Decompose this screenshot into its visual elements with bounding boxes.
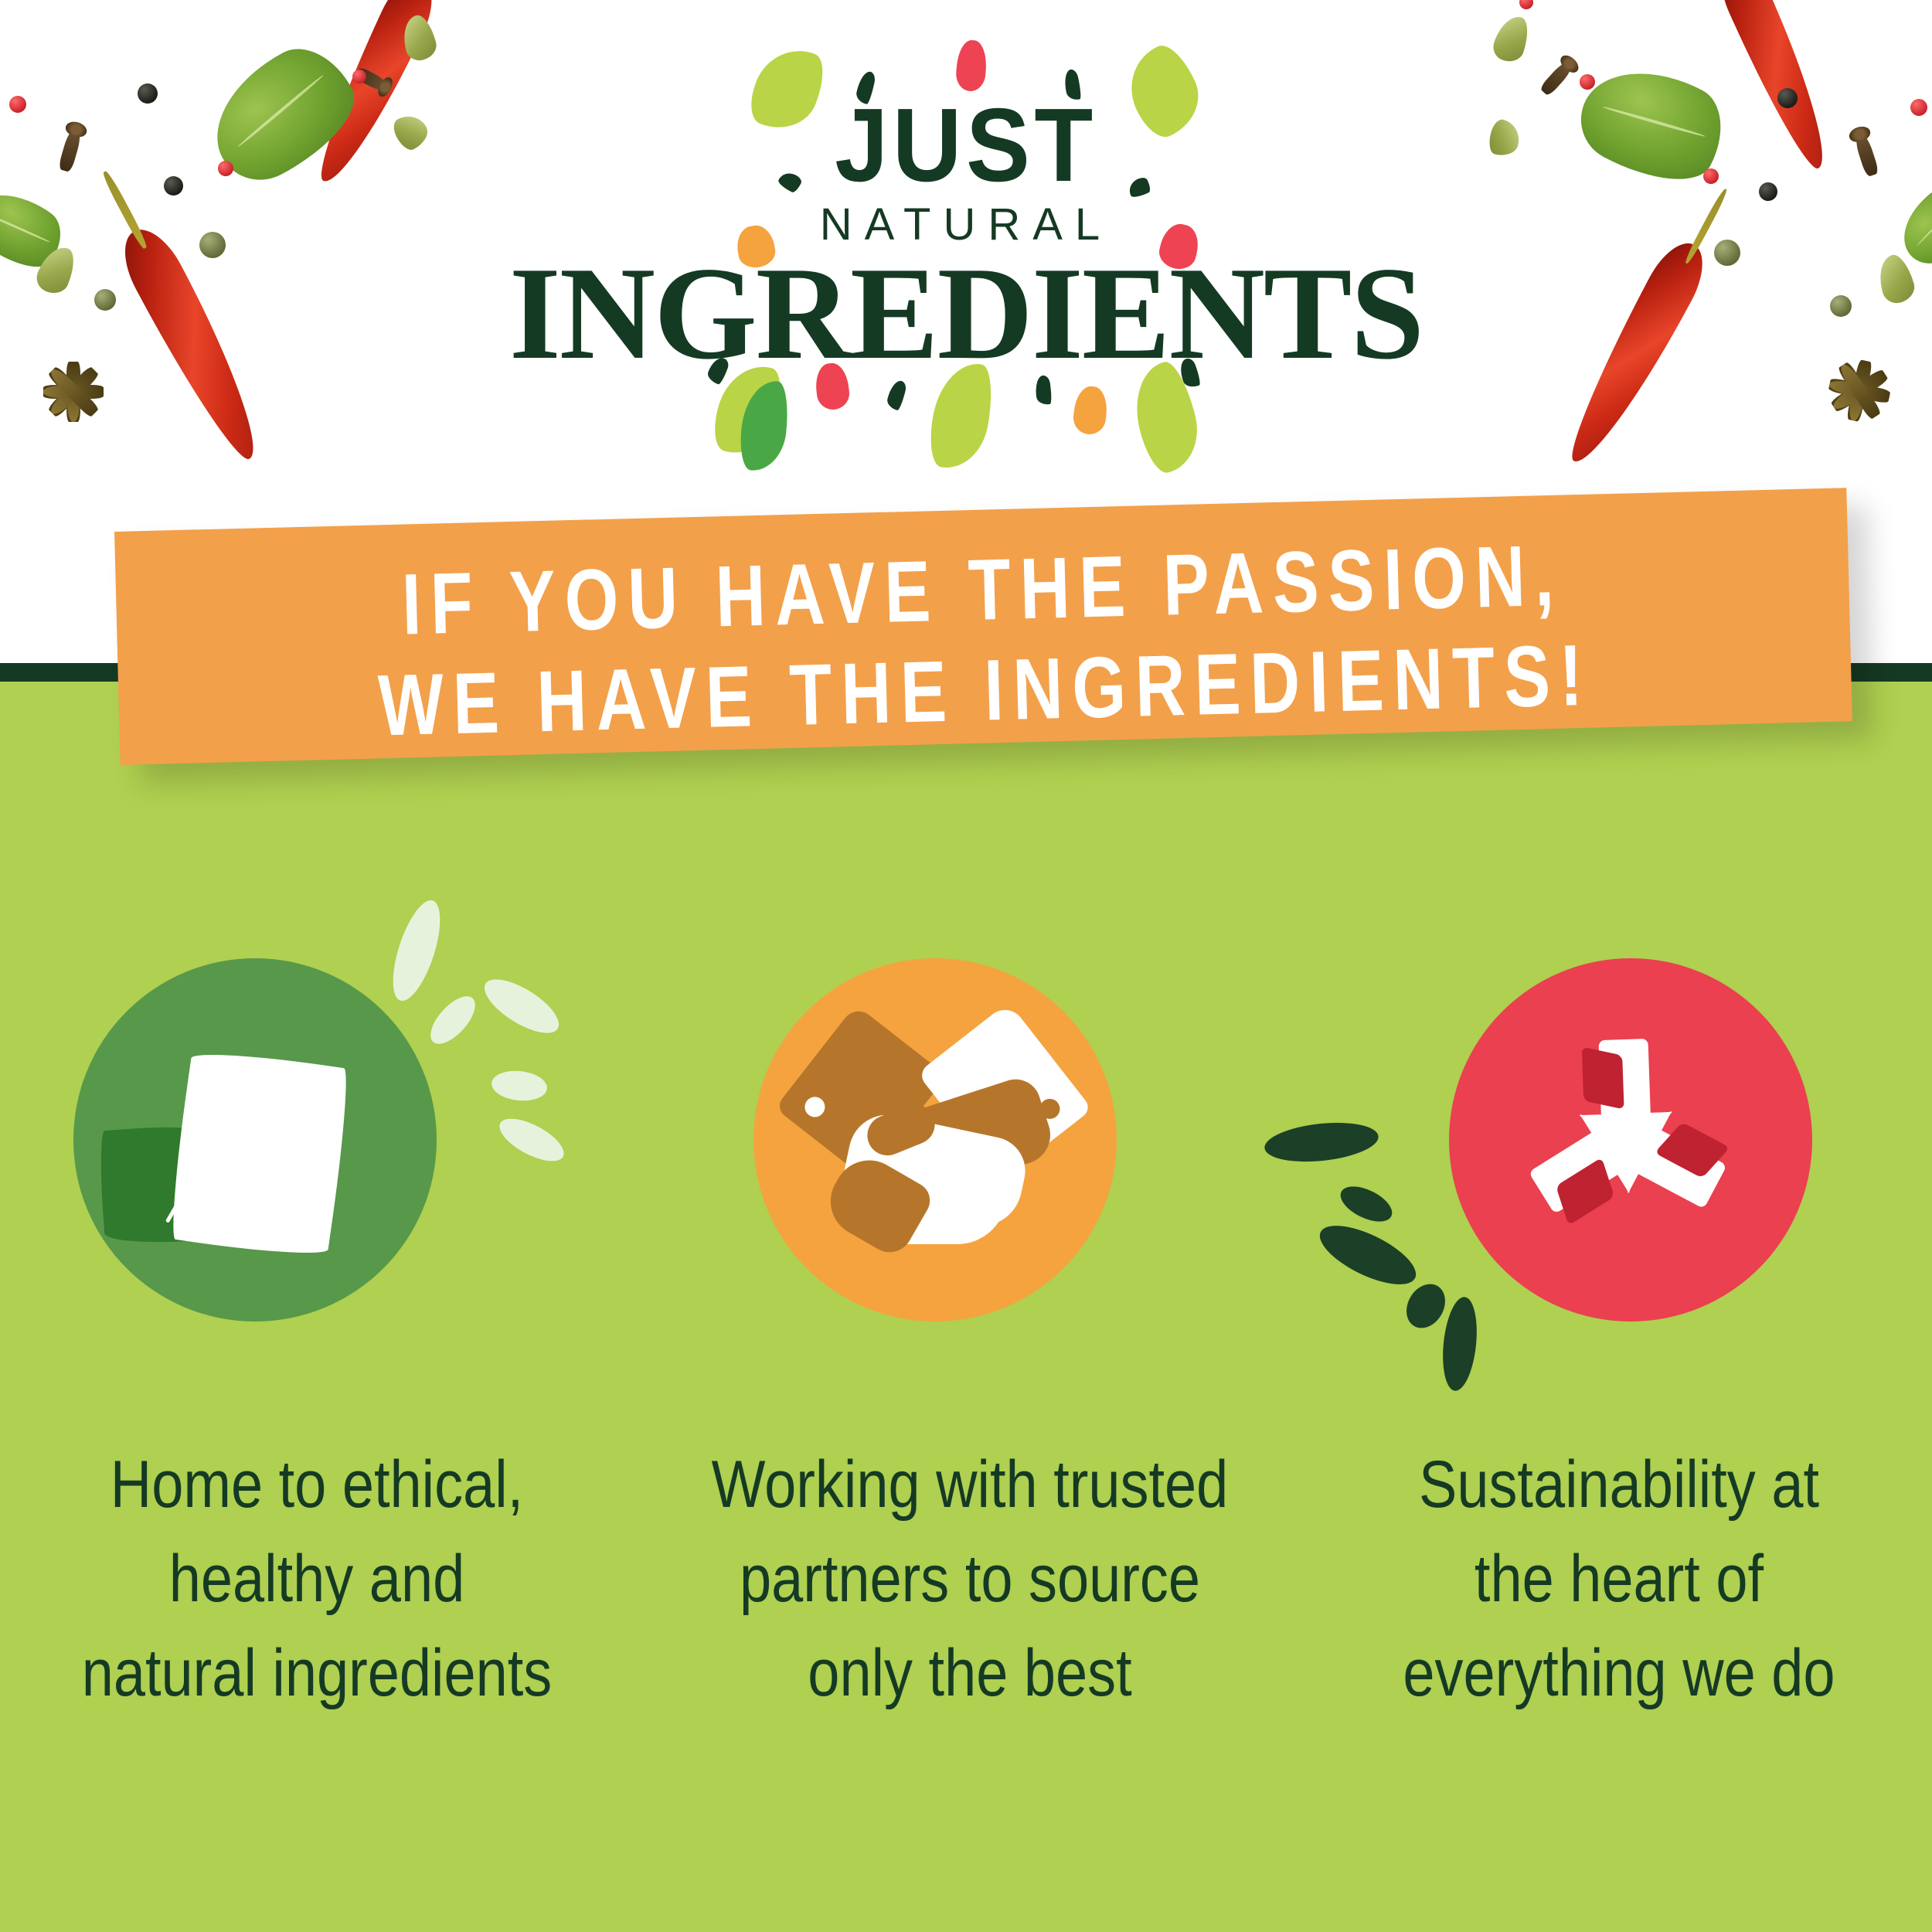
caption-line: everything we do [1356,1626,1881,1720]
leaf-icon-front [166,1047,354,1261]
sparkle-stroke [1399,1277,1453,1335]
feature-icon-circle [1449,958,1812,1321]
recycle-icon [1492,1005,1762,1275]
sparkle-stroke [1439,1295,1481,1393]
drop-blob-red-icon [955,39,988,92]
feature-icon-circle [753,958,1117,1321]
caption-line: partners to source [704,1532,1236,1626]
feature-caption-sustainability: Sustainability at the heart of everythin… [1356,1437,1881,1720]
sparkle-stroke [493,1111,570,1170]
sparkle-stroke [490,1068,549,1103]
poster-canvas: JUST NATURAL INGREDIENTS IF YOU HAVE THE… [0,0,1932,1932]
sparkle-stroke [1263,1117,1380,1166]
feature-icon-circle [73,958,437,1321]
tagline-banner: IF YOU HAVE THE PASSION, WE HAVE THE ING… [114,488,1852,765]
logo-word-just: JUST [77,93,1855,197]
logo-word-ingredients: INGREDIENTS [0,247,1932,380]
drop-blob-orange-icon [1072,385,1109,436]
sparkle-stroke [423,989,483,1052]
sparkle-stroke [477,969,567,1043]
caption-line: Home to ethical, [58,1437,577,1532]
brand-logo: JUST NATURAL INGREDIENTS [0,0,1932,479]
caption-line: healthy and [58,1532,577,1626]
caption-line: the heart of [1356,1532,1881,1626]
caption-line: only the best [704,1626,1236,1720]
caption-line: natural ingredients [58,1626,577,1720]
sparkle-stroke [1311,1214,1423,1296]
feature-caption-ethical: Home to ethical, healthy and natural ing… [58,1437,577,1720]
sparkle-stroke [1335,1179,1397,1229]
feature-caption-partners: Working with trusted partners to source … [704,1437,1236,1720]
caption-line: Working with trusted [704,1437,1236,1532]
sparkle-stroke [383,895,450,1006]
feature-captions: Home to ethical, healthy and natural ing… [0,1437,1932,1762]
caption-line: Sustainability at [1356,1437,1881,1532]
